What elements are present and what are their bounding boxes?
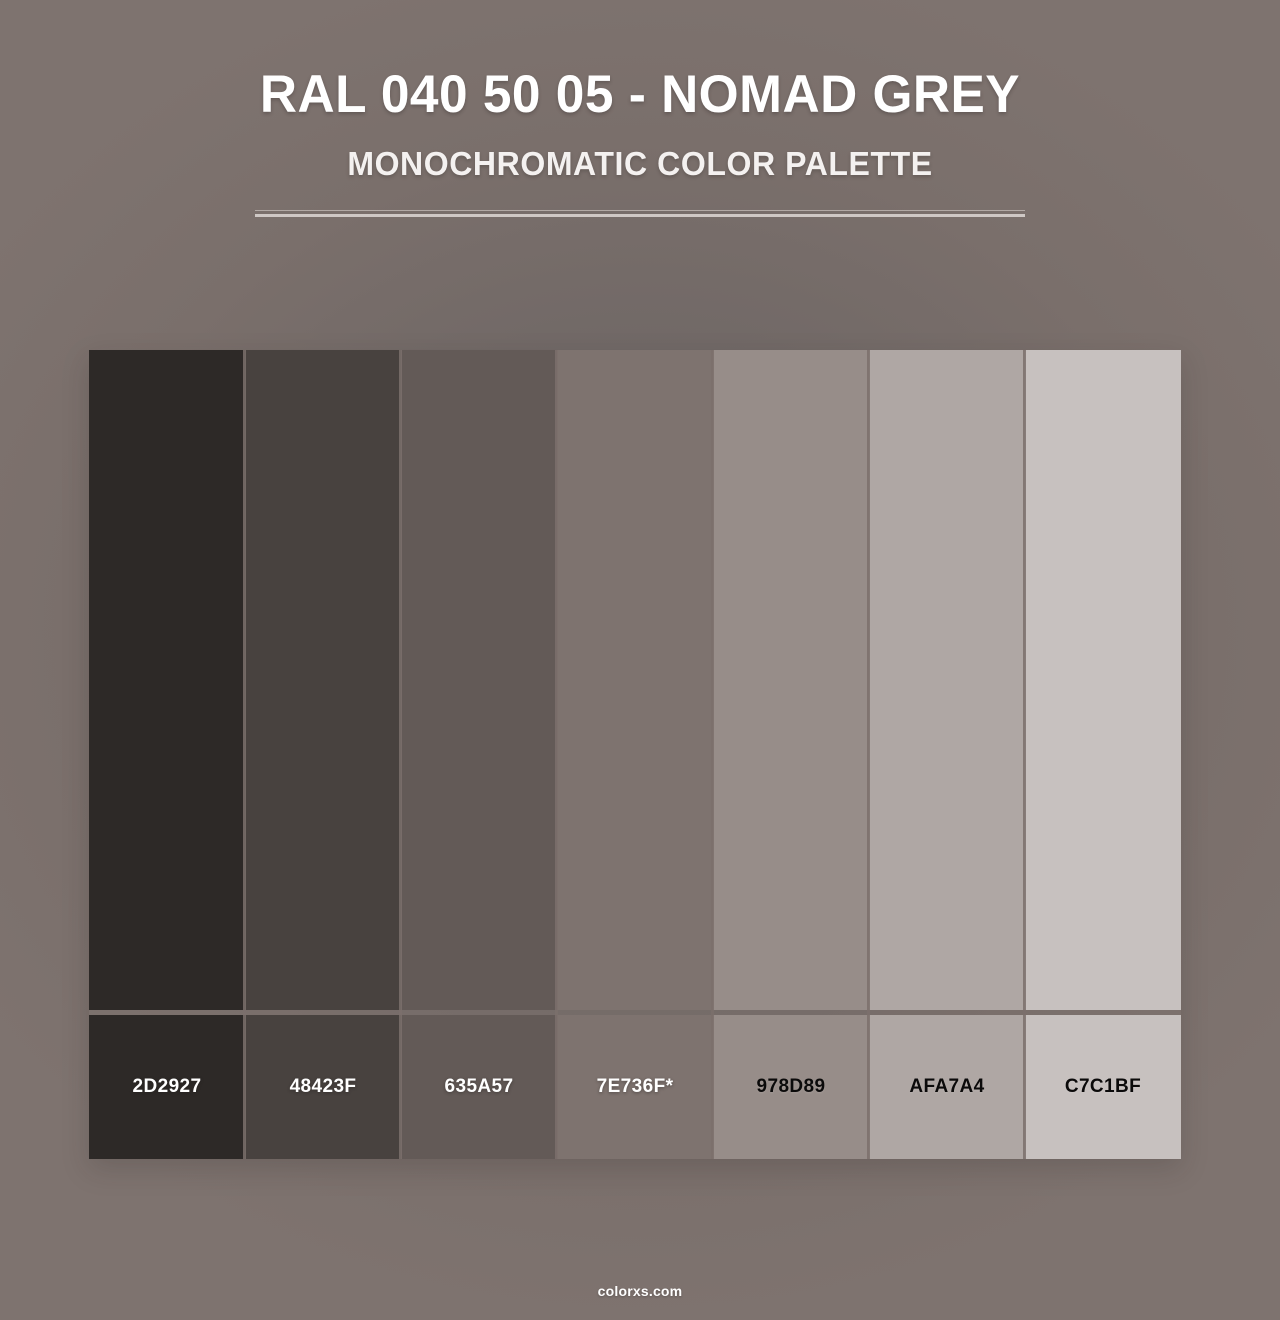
swatch-column[interactable]: 635A57: [401, 350, 557, 1159]
swatch-label-block[interactable]: 7E736F*: [557, 1015, 713, 1159]
page-title: RAL 040 50 05 - NOMAD GREY: [19, 66, 1261, 123]
footer-brand-label: colorxs.com: [0, 1283, 1280, 1299]
swatch-label-block[interactable]: 635A57: [401, 1015, 557, 1159]
swatch-column[interactable]: 48423F: [245, 350, 401, 1159]
swatch-color-block[interactable]: [401, 350, 557, 1010]
swatch-label-block[interactable]: AFA7A4: [869, 1015, 1025, 1159]
swatch-column[interactable]: 2D2927: [89, 350, 245, 1159]
swatch-hex-label: 7E736F*: [597, 1076, 674, 1098]
swatch-color-block[interactable]: [245, 350, 401, 1010]
swatch-hex-label: 48423F: [290, 1076, 357, 1098]
page-subtitle: MONOCHROMATIC COLOR PALETTE: [19, 145, 1261, 183]
swatch-column[interactable]: 978D89: [713, 350, 869, 1159]
swatch-hex-label: C7C1BF: [1065, 1076, 1141, 1098]
footer: colorxs.com: [0, 1283, 1280, 1299]
swatch-column[interactable]: AFA7A4: [869, 350, 1025, 1159]
swatch-color-block[interactable]: [713, 350, 869, 1010]
color-palette-strip: 2D292748423F635A577E736F*978D89AFA7A4C7C…: [89, 350, 1181, 1159]
swatch-column[interactable]: C7C1BF: [1025, 350, 1181, 1159]
title-divider: [255, 210, 1025, 217]
swatch-hex-label: 2D2927: [133, 1076, 202, 1098]
swatch-hex-label: AFA7A4: [909, 1076, 984, 1098]
swatch-label-block[interactable]: 2D2927: [89, 1015, 245, 1159]
swatch-color-block[interactable]: [89, 350, 245, 1010]
swatch-color-block[interactable]: [557, 350, 713, 1010]
swatch-hex-label: 978D89: [757, 1076, 826, 1098]
palette-header: RAL 040 50 05 - NOMAD GREY MONOCHROMATIC…: [0, 0, 1280, 217]
divider-line-lower: [255, 214, 1025, 217]
swatch-column[interactable]: 7E736F*: [557, 350, 713, 1159]
swatch-label-block[interactable]: C7C1BF: [1025, 1015, 1181, 1159]
swatch-hex-label: 635A57: [445, 1076, 514, 1098]
swatch-label-block[interactable]: 978D89: [713, 1015, 869, 1159]
swatch-color-block[interactable]: [1025, 350, 1181, 1010]
swatch-label-block[interactable]: 48423F: [245, 1015, 401, 1159]
divider-line-upper: [255, 210, 1025, 211]
swatch-color-block[interactable]: [869, 350, 1025, 1010]
